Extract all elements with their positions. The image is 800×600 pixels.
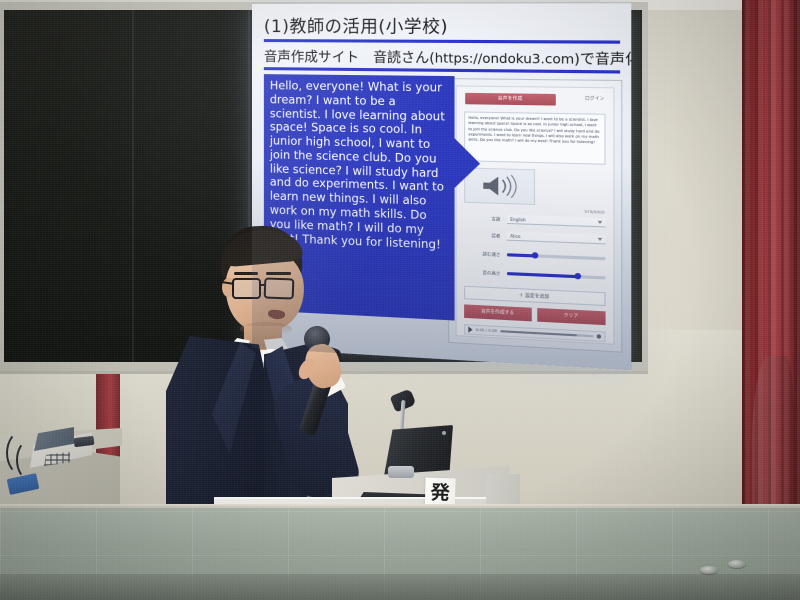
control-label: 音の高さ (464, 269, 500, 277)
pitch-slider-fill (507, 272, 578, 278)
site-top-button: 音声を作成 (465, 93, 556, 106)
slide-title: (1)教師の活用(小学校) (264, 12, 620, 39)
site-action-buttons: 音声を作成する クリア (464, 304, 605, 325)
control-label: 話者 (464, 231, 500, 239)
subtitle-suffix: )で音声化 (574, 51, 631, 68)
laptop-webcam (442, 431, 446, 435)
site-window: 音声を作成 ログイン Hello, everyone! What is your… (456, 85, 615, 344)
clear-button: クリア (537, 308, 606, 325)
control-row-speaker: 話者 Alice (464, 228, 605, 247)
site-textarea: Hello, everyone! What is your dream? I w… (464, 111, 605, 164)
speech-bubble-tail (452, 136, 480, 191)
slide-subtitle: 音声作成サイト 音読さん(https://ondoku3.com)で音声化 (264, 45, 620, 68)
glasses-lens-left (232, 278, 261, 299)
speed-slider (507, 253, 606, 260)
create-audio-button: 音声を作成する (464, 304, 531, 321)
control-label: 読む速さ (464, 250, 500, 258)
eyebrow-left (234, 272, 258, 275)
stage-curtain-right (742, 0, 800, 506)
control-row-speed: 読む速さ (464, 246, 605, 265)
site-char-count: 379/5000 (584, 209, 604, 215)
title-underline (264, 39, 620, 44)
glasses-lens-right (264, 277, 295, 299)
speed-slider-fill (507, 253, 534, 257)
player-progress-fill (500, 330, 576, 336)
glasses-bridge (260, 284, 266, 286)
subtitle-underline (264, 67, 620, 73)
add-setting-button: ＋ 設定を追加 (464, 286, 605, 306)
control-label: 言語 (464, 215, 500, 222)
control-row-pitch: 音の高さ (464, 265, 605, 285)
podium-sign-char: 発 (430, 484, 450, 504)
floor-socket (700, 566, 718, 574)
gooseneck-mic-base (388, 466, 414, 478)
voice-select: Alice (507, 231, 606, 244)
player-time: 0:00 / 0:28 (476, 328, 497, 333)
curtain-fold (752, 356, 794, 506)
speed-slider-knob (531, 252, 538, 259)
subtitle-url: https://ondoku3.com (435, 50, 574, 67)
ondoku-website-screenshot: 音声を作成 ログイン Hello, everyone! What is your… (448, 78, 622, 353)
site-login-label: ログイン (585, 95, 605, 102)
site-top-button-label: 音声を作成 (465, 93, 556, 106)
lecture-hall-photo: (1)教師の活用(小学校) 音声作成サイト 音読さん(https://ondok… (0, 0, 800, 600)
floor-socket (728, 560, 746, 568)
site-textarea-value: Hello, everyone! What is your dream? I w… (468, 116, 601, 146)
language-select: English (507, 215, 606, 228)
play-icon (468, 326, 472, 332)
subtitle-prefix: 音声作成サイト 音読さん( (264, 49, 435, 67)
pitch-slider (507, 272, 606, 279)
hair-front (221, 227, 304, 268)
eyebrow-right (266, 272, 291, 275)
pitch-slider-knob (575, 273, 582, 280)
audio-player: 0:00 / 0:28 (464, 324, 605, 342)
player-volume-icon (597, 334, 601, 338)
player-progress (500, 330, 593, 337)
floor-shadow-band (0, 574, 800, 600)
